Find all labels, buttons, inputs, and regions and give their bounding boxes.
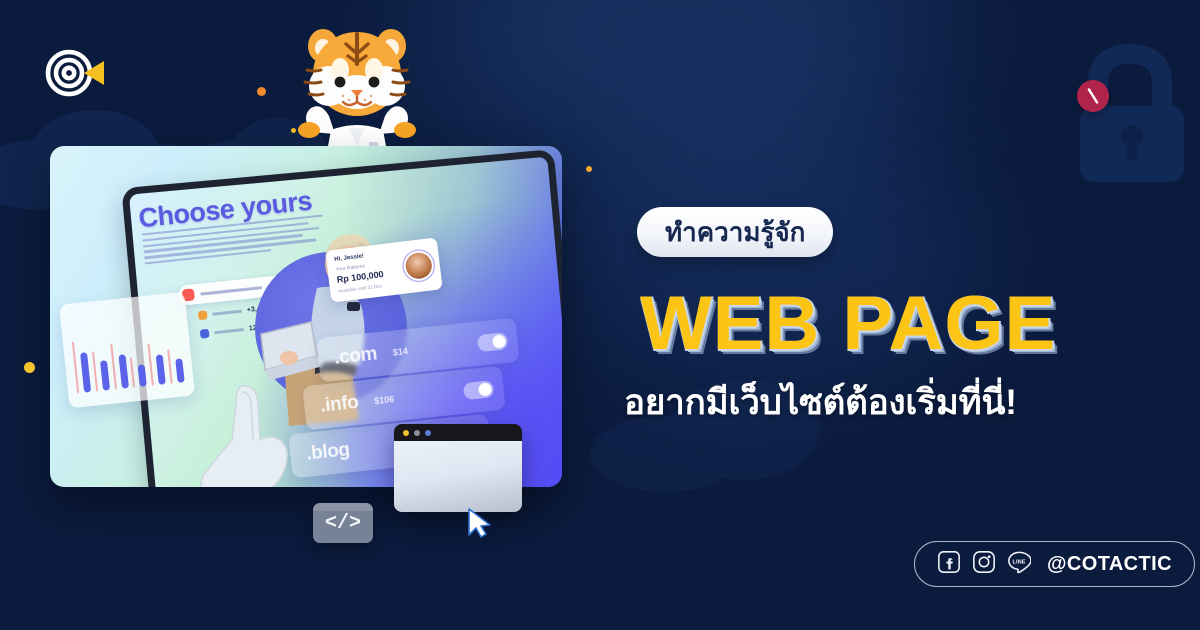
user-avatar <box>404 251 433 280</box>
chart-bars <box>69 307 184 394</box>
pointing-hand-icon <box>190 378 308 487</box>
domain-toggle-info[interactable] <box>463 380 495 400</box>
decor-dot-yellow-1 <box>291 128 296 133</box>
stat-label-1 <box>212 310 242 316</box>
tiger-mascot <box>291 12 423 162</box>
domain-name-info: .info <box>319 392 359 418</box>
svg-text:LINE: LINE <box>1012 559 1025 565</box>
stat-icon-1 <box>198 310 208 320</box>
facebook-icon[interactable] <box>937 550 961 579</box>
hero-chart-card <box>59 292 195 409</box>
padlock-icon <box>1050 36 1200 186</box>
browser-window-icon[interactable] <box>394 424 522 512</box>
balance-greeting: Hi, Jessie! <box>334 253 364 263</box>
eyebrow-badge: ทำความรู้จัก <box>637 207 833 257</box>
blocked-slash-icon <box>1077 80 1109 112</box>
stat-label-2 <box>214 328 244 334</box>
cotactic-logo[interactable] <box>44 47 106 99</box>
poster-canvas: Choose yours +3,498.21 122.38 <box>0 0 1200 630</box>
decor-dot-orange-2 <box>586 166 592 172</box>
social-badge[interactable]: LINE @COTACTIC <box>914 541 1195 587</box>
domain-price-com: $14 <box>392 346 408 358</box>
line-icon[interactable]: LINE <box>1007 550 1031 579</box>
domain-name-blog: .blog <box>305 439 350 465</box>
browser-viewport <box>394 441 522 512</box>
domain-name-com: .com <box>333 343 378 369</box>
mouse-pointer-icon <box>466 508 492 538</box>
search-placeholder-line <box>200 286 262 295</box>
eyebrow-text: ทำความรู้จัก <box>665 219 805 245</box>
decor-dot-yellow-2 <box>24 362 35 373</box>
page-subtitle: อยากมีเว็บไซต์ต้องเริ่มที่นี่! <box>624 384 1017 423</box>
code-brackets-icon[interactable]: </> <box>313 503 373 543</box>
browser-dot-gray <box>414 430 420 436</box>
browser-dot-yellow <box>403 430 409 436</box>
balance-footnote: Available until 31 Dec <box>338 283 382 293</box>
page-title: WEB PAGE <box>640 286 1056 362</box>
browser-title-bar <box>394 424 522 441</box>
browser-dot-blue <box>425 430 431 436</box>
social-handle: @COTACTIC <box>1047 553 1172 576</box>
instagram-icon[interactable] <box>972 550 996 579</box>
stat-icon-2 <box>200 329 210 339</box>
decor-dot-orange-1 <box>257 87 266 96</box>
domain-price-info: $106 <box>374 394 395 406</box>
domain-toggle-com[interactable] <box>477 332 509 352</box>
